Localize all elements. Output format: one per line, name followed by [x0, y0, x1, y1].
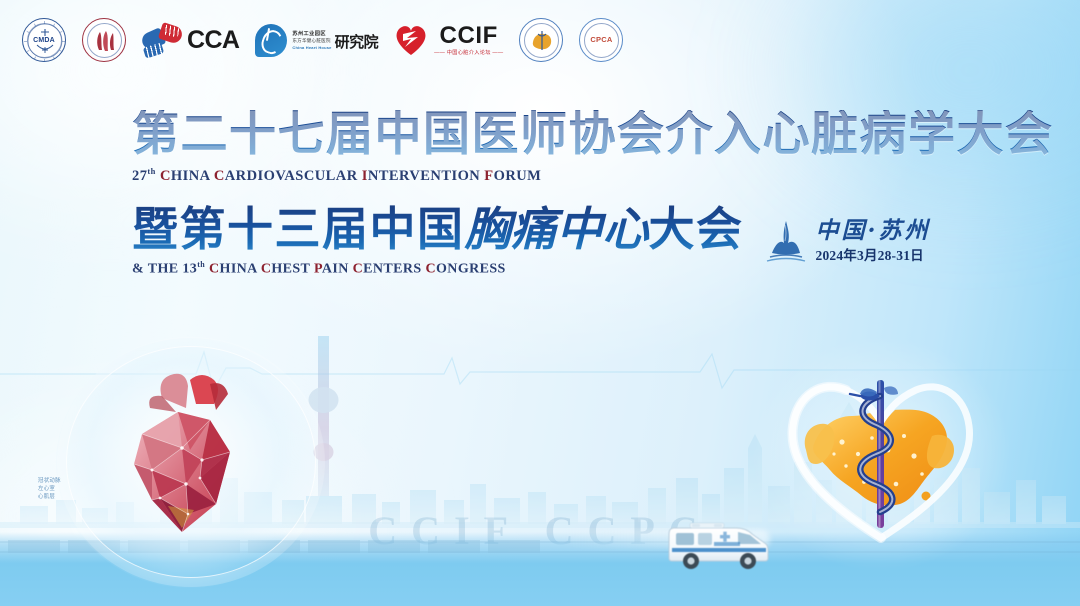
cmda-abbr-label: CMDA: [33, 37, 55, 44]
heart-label-2: 心肌层: [38, 492, 61, 500]
en2-w3: CENTERS: [353, 262, 422, 277]
heart-label-1: 左心室: [38, 484, 61, 492]
title2-part-a: 暨第十三届中国: [132, 202, 465, 256]
title-block: 第二十七届中国医师协会介入心脏病学大会 27th CHINA CARDIOVAS…: [132, 110, 1054, 278]
conference-title-chinese-line2: 暨第十三届中国胸痛中心大会: [132, 205, 744, 254]
heart-label-0: 冠状动脉: [38, 476, 61, 484]
en1-w0: CHINA: [160, 168, 210, 184]
cmda-seal-icon: CMDA: [22, 18, 66, 62]
ccif-logo: CCIF —— 中国心脏介入论坛 ——: [394, 17, 503, 63]
en2-w2: PAIN: [314, 262, 349, 277]
en1-w3: FORUM: [484, 168, 541, 184]
en2-w4: CONGRESS: [426, 262, 506, 277]
cca-handshake-heart-icon: [142, 23, 182, 57]
low-poly-heart-svg: [90, 368, 290, 548]
cardiac-society-seal-logo: [519, 17, 563, 63]
mountain-wave-icon: [764, 219, 808, 265]
venue-city-label: 中国·苏州: [816, 219, 931, 242]
gold-map-emblem-icon: [525, 24, 559, 58]
conference-date-label: 2024年3月28-31日: [816, 244, 931, 264]
cpca-seal-logo: CPCA: [579, 17, 623, 63]
sponsor-logo-bar: CMDA CCA: [0, 14, 1080, 66]
edition-number-1: 27: [132, 168, 147, 184]
chh-line2-label: 东方华健心脏医院: [292, 38, 331, 44]
china-heart-house-swirl-icon: [255, 24, 287, 57]
ambulance: [662, 516, 774, 572]
low-poly-heart-graphic: 冠状动脉 左心室 心肌层: [90, 368, 290, 548]
ccif-sub-label: —— 中国心脏介入论坛 ——: [434, 49, 503, 56]
cca-logo: CCA: [142, 17, 239, 63]
cgca-seal-logo: [82, 17, 126, 63]
cgca-emblem-icon: [88, 24, 122, 58]
conference-subtitle-english-line1: 27th CHINA CARDIOVASCULAR INTERVENTION F…: [132, 166, 1054, 185]
cgca-seal-icon: [82, 18, 126, 62]
en1-w1: CARDIOVASCULAR: [214, 168, 358, 184]
china-map-heart-graphic: [776, 358, 986, 548]
title2-brush-part: 胸痛中心: [465, 202, 649, 256]
edition-number-2: & THE 13: [132, 262, 197, 277]
chh-institute-label: 研究院: [335, 35, 379, 50]
ccif-wordmark-label: CCIF: [440, 24, 498, 48]
venue-date-block: 中国·苏州 2024年3月28-31日: [764, 219, 931, 265]
heart-annotation-labels: 冠状动脉 左心室 心肌层: [38, 476, 61, 500]
cpca-seal-icon: CPCA: [579, 18, 623, 62]
cca-wordmark-label: CCA: [187, 26, 239, 55]
edition-suffix-2: th: [197, 260, 205, 269]
en2-w0: CHINA: [209, 262, 257, 277]
cardiac-society-seal-icon: [519, 18, 563, 62]
ccif-heart-icon: [394, 25, 428, 56]
en1-w2: INTERVENTION: [362, 168, 481, 184]
edition-suffix-1: th: [147, 166, 155, 176]
title2-part-b: 大会: [649, 202, 744, 256]
cmda-seal-logo: CMDA: [22, 17, 66, 63]
ccif-heart-glyph-icon: [394, 25, 428, 56]
mountain-wave-glyph-icon: [764, 219, 808, 265]
cpca-abbr-label: CPCA: [590, 36, 612, 44]
china-map-heart-svg: [776, 358, 986, 548]
china-heart-house-logo: 苏州工业园区 东方华健心脏医院 China Heart House 研究院: [255, 17, 378, 63]
conference-poster: CMDA CCA: [0, 0, 1080, 606]
chh-line3-label: China Heart House: [292, 45, 331, 50]
conference-title-chinese-line1: 第二十七届中国医师协会介入心脏病学大会: [132, 110, 1054, 160]
en2-w1: CHEST: [261, 262, 310, 277]
conference-subtitle-english-line2: & THE 13th CHINA CHEST PAIN CENTERS CONG…: [132, 260, 744, 278]
chh-line1-label: 苏州工业园区: [292, 30, 331, 37]
